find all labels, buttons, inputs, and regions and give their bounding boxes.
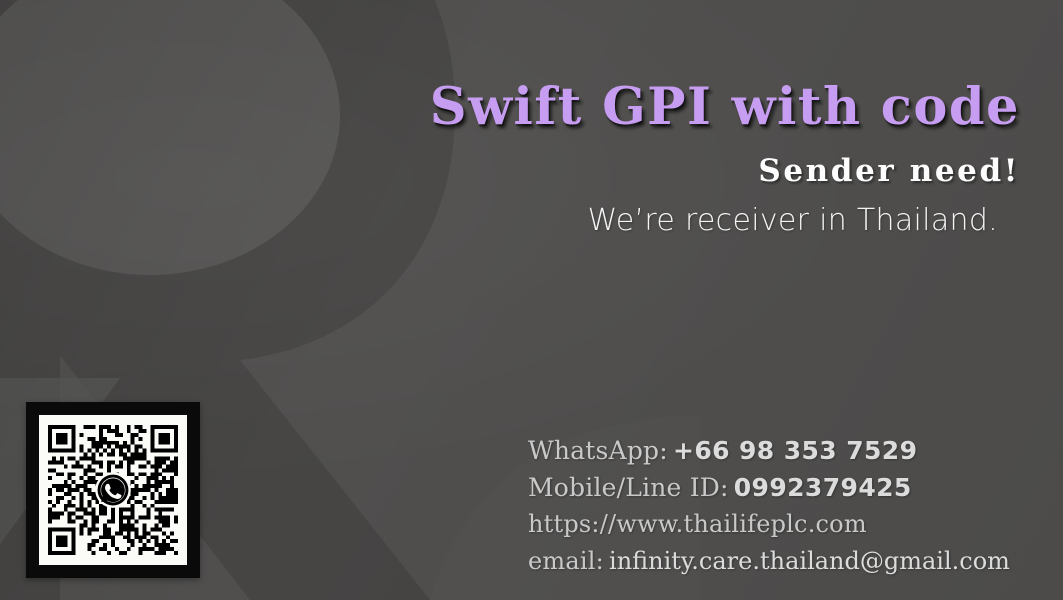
business-card: Swift GPI with code Sender need! We’re r… xyxy=(0,0,1063,600)
contact-row-email[interactable]: email: infinity.care.thailand@gmail.com xyxy=(528,549,1010,573)
contact-label: email: xyxy=(528,547,604,575)
contact-row-website[interactable]: https://www.thailifeplc.com xyxy=(528,512,1010,536)
headline-block: Swift GPI with code Sender need! We’re r… xyxy=(0,0,1044,238)
contact-details: WhatsApp: +66 98 353 7529 Mobile/Line ID… xyxy=(528,438,1010,573)
qr-code-canvas xyxy=(39,415,187,565)
contact-row-whatsapp: WhatsApp: +66 98 353 7529 xyxy=(528,438,1010,463)
email-address[interactable]: infinity.care.thailand@gmail.com xyxy=(609,547,1010,575)
mobile-line-id: 0992379425 xyxy=(734,473,912,502)
contact-label: WhatsApp: xyxy=(528,436,668,465)
whatsapp-icon xyxy=(94,471,132,509)
headline-subtitle: Sender need! xyxy=(0,133,1020,189)
whatsapp-qr-code[interactable] xyxy=(26,402,200,578)
page-title: Swift GPI with code xyxy=(0,0,1020,133)
contact-label: Mobile/Line ID: xyxy=(528,473,729,502)
contact-row-mobile: Mobile/Line ID: 0992379425 xyxy=(528,475,1010,500)
whatsapp-number: +66 98 353 7529 xyxy=(673,436,917,465)
headline-tagline: We’re receiver in Thailand. xyxy=(0,189,1020,238)
website-url[interactable]: https://www.thailifeplc.com xyxy=(528,510,867,538)
